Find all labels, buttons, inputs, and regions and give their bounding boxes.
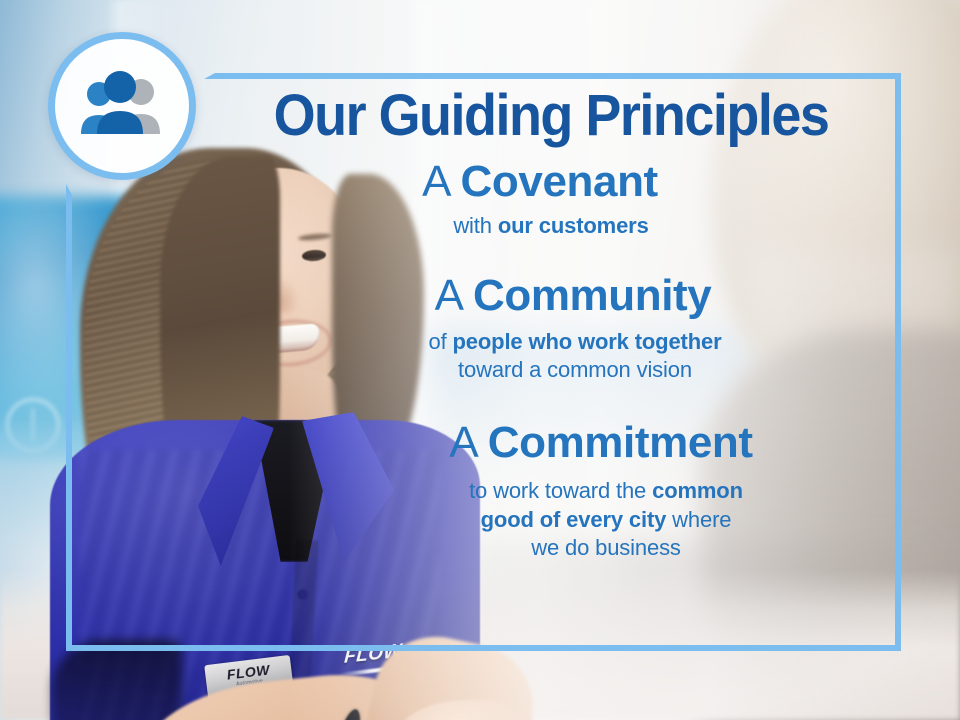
page-title: Our Guiding Principles xyxy=(239,86,864,145)
principle-commitment-heading: A Commitment xyxy=(315,418,887,467)
frame-border-right xyxy=(895,73,901,651)
subtext-plain: we do business xyxy=(531,535,681,560)
principle-commitment-subtext: to work toward the commongood of every c… xyxy=(325,477,887,561)
subtext-line: good of every city where xyxy=(325,506,887,534)
people-group-icon xyxy=(74,70,170,142)
principle-community-subtext: of people who work togethertoward a comm… xyxy=(263,328,887,384)
subtext-line: we do business xyxy=(325,534,887,562)
frame-border-top xyxy=(215,73,901,79)
principle-list: A Covenantwith our customersA Communityo… xyxy=(215,157,887,562)
subtext-plain: toward a common vision xyxy=(458,357,692,382)
principle-community-heading: A Community xyxy=(259,271,887,320)
subtext-emphasis: people who work together xyxy=(453,329,722,354)
subtext-plain: with xyxy=(453,213,498,238)
subtext-line: to work toward the common xyxy=(325,477,887,505)
principle-article: A xyxy=(435,271,473,320)
principle-article: A xyxy=(449,418,487,467)
subtext-emphasis: good of every city xyxy=(481,507,667,532)
principle-covenant-heading: A Covenant xyxy=(193,157,887,206)
subtext-plain: of xyxy=(429,329,453,354)
subtext-line: with our customers xyxy=(215,212,887,240)
frame-border-bottom xyxy=(66,645,901,651)
principles-content: Our Guiding Principles A Covenantwith ou… xyxy=(215,86,887,566)
principle-keyword: Covenant xyxy=(461,157,658,206)
shirt-button xyxy=(298,590,307,599)
principle-covenant: A Covenantwith our customers xyxy=(215,157,887,240)
people-group-badge xyxy=(48,32,196,180)
principle-keyword: Community xyxy=(473,271,711,320)
principle-covenant-subtext: with our customers xyxy=(215,212,887,240)
principle-keyword: Commitment xyxy=(488,418,753,467)
principle-community: A Communityof people who work togetherto… xyxy=(215,271,887,385)
principle-commitment: A Commitmentto work toward the commongoo… xyxy=(215,418,887,562)
subtext-emphasis: our customers xyxy=(498,213,649,238)
subtext-plain: to work toward the xyxy=(469,478,652,503)
subtext-plain: where xyxy=(666,507,731,532)
subtext-line: of people who work together xyxy=(263,328,887,356)
principle-article: A xyxy=(422,157,460,206)
guiding-principles-graphic: FLOW Automotive FLOW xyxy=(0,0,960,720)
sleeve-shadow xyxy=(52,640,182,720)
subtext-emphasis: common xyxy=(652,478,743,503)
frame-border-left xyxy=(66,195,72,651)
subtext-line: toward a common vision xyxy=(263,356,887,384)
